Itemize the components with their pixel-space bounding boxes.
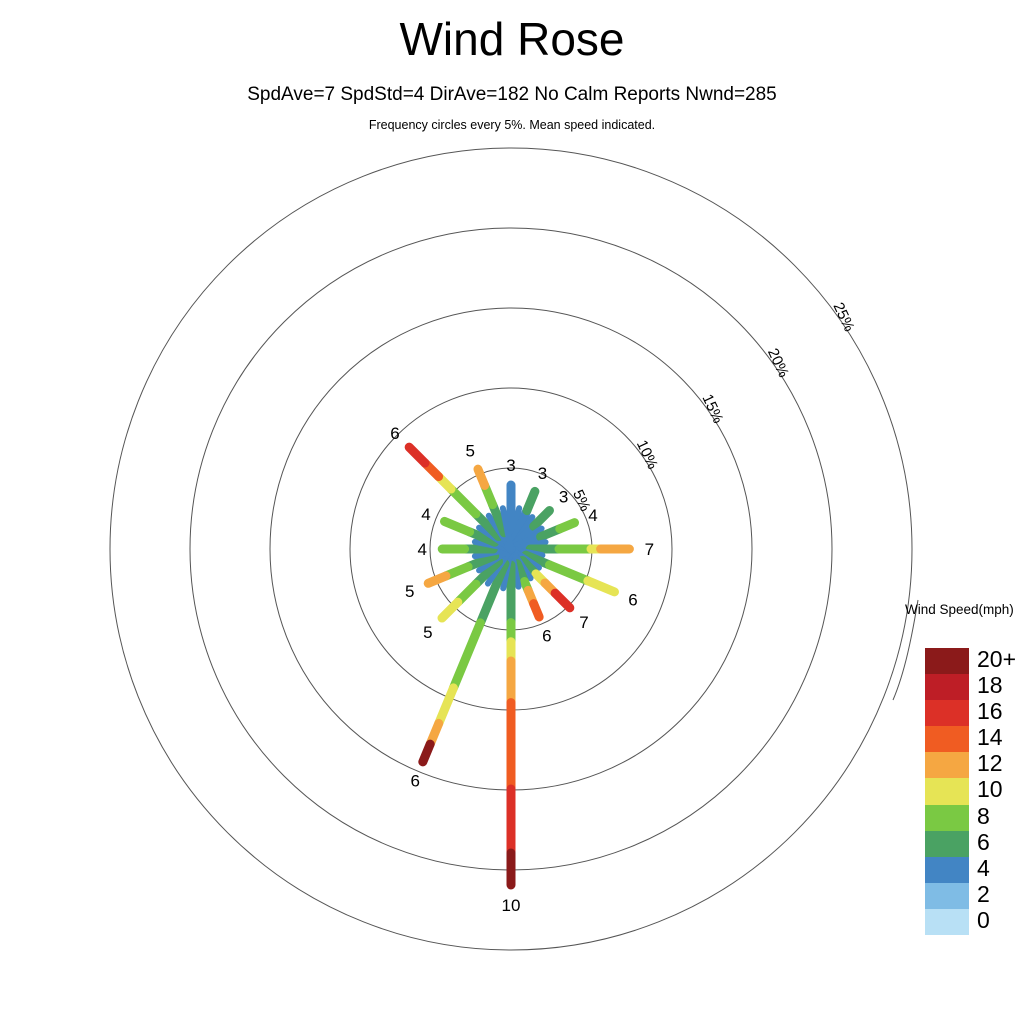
legend-row: 12 [925,752,969,778]
wind-rose-page: Wind Rose SpdAve=7 SpdStd=4 DirAve=182 N… [0,0,1024,1024]
legend-title: Wind Speed(mph) [905,602,1014,617]
petal-speed-segment [409,447,425,463]
legend-row: 2 [925,883,969,909]
petal-speed-labels: 33347676106554465 [390,424,654,915]
petal-speed-segment [527,491,535,510]
petal-speed-segment [560,523,575,529]
legend-color-swatch [925,909,969,935]
legend-color-swatch [925,752,969,778]
legend-label: 18 [977,672,1003,699]
petal-mean-speed-label: 3 [506,456,515,475]
petal-speed-segment [453,623,480,688]
petal-mean-speed-label: 4 [588,506,597,525]
petal-speed-segment [478,469,485,485]
legend-label: 6 [977,829,990,856]
legend-label: 4 [977,855,990,882]
petal-speed-segment [534,511,550,527]
wind-petal [409,447,511,549]
petal-speed-segment [549,565,587,581]
wind-rose-plot: 5%10%15%20%25% 33347676106554465 [0,0,1024,1024]
petal-speed-segment [588,581,615,592]
legend-row: 20+ [925,648,969,674]
petal-speed-segment [439,688,454,723]
petal-mean-speed-label: 7 [645,540,654,559]
petal-mean-speed-label: 6 [542,626,551,645]
petal-speed-segment [555,593,570,608]
legend-color-swatch [925,883,969,909]
petal-speed-segment [423,744,430,762]
legend-row: 6 [925,831,969,857]
legend-label: 2 [977,881,990,908]
petal-mean-speed-label: 3 [559,487,568,506]
legend-row: 16 [925,700,969,726]
legend-label: 12 [977,750,1003,777]
legend-color-swatch [925,700,969,726]
petal-speed-segment [451,489,476,514]
legend-color-swatch [925,857,969,883]
ring-labels: 5%10%15%20%25% [569,300,857,514]
petal-mean-speed-label: 4 [421,505,430,524]
legend-row: 18 [925,674,969,700]
legend-color-swatch [925,726,969,752]
petal-speed-segment [442,602,458,618]
legend-color-swatch [925,831,969,857]
legend-row: 8 [925,805,969,831]
legend-row: 4 [925,857,969,883]
legend-color-swatch [925,805,969,831]
petal-mean-speed-label: 6 [390,424,399,443]
petal-mean-speed-label: 5 [423,623,432,642]
legend-row: 0 [925,909,969,935]
legend-label: 8 [977,803,990,830]
petal-mean-speed-label: 4 [417,540,426,559]
petal-speed-segment [444,521,469,531]
petal-mean-speed-label: 3 [538,464,547,483]
petal-mean-speed-label: 6 [410,771,419,790]
legend-label: 16 [977,698,1003,725]
legend-color-swatch [925,778,969,804]
legend-color-swatch [925,648,969,674]
petal-mean-speed-label: 7 [579,613,588,632]
ring-label: 20% [764,346,792,380]
legend-label: 20+ [977,646,1016,673]
ring-label: 15% [698,392,726,426]
legend-color-swatch [925,674,969,700]
legend-label: 14 [977,724,1003,751]
petal-speed-segment [428,576,446,583]
petal-mean-speed-label: 5 [405,582,414,601]
petal-mean-speed-label: 5 [466,442,475,461]
petal-mean-speed-label: 10 [502,896,521,915]
legend-row: 14 [925,726,969,752]
legend-label: 0 [977,907,990,934]
petal-mean-speed-label: 6 [628,591,637,610]
petal-speed-segment [534,604,540,617]
legend-label: 10 [977,776,1003,803]
legend-row: 10 [925,778,969,804]
wind-speed-legend: 20+181614121086420 [925,648,969,935]
ring-label: 10% [633,438,661,472]
ring-label: 25% [830,300,858,334]
